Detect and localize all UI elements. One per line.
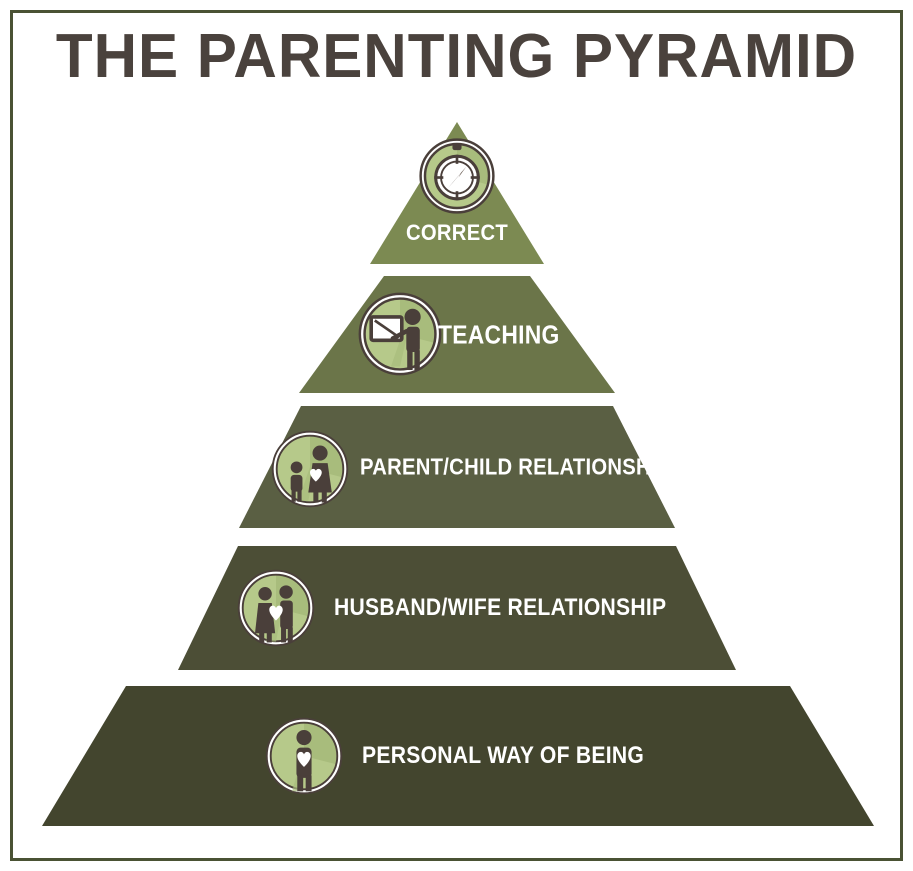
pyramid-level-teaching[interactable]: TEACHING	[299, 276, 615, 393]
pyramid-chart: CORRECT	[0, 0, 913, 871]
level-2-label: TEACHING	[438, 319, 560, 350]
person-heart-icon	[262, 714, 346, 798]
level-3-label: PARENT/CHILD RELATIONSHIP	[360, 454, 671, 481]
parent-child-heart-icon	[268, 427, 352, 511]
level-5-label: PERSONAL WAY OF BEING	[362, 742, 644, 770]
couple-heart-icon	[234, 566, 318, 650]
pyramid-level-husband-wife[interactable]: HUSBAND/WIFE RELATIONSHIP	[178, 546, 736, 670]
pyramid-level-personal-way-of-being[interactable]: PERSONAL WAY OF BEING	[42, 686, 874, 826]
pyramid-infographic: THE PARENTING PYRAMID	[0, 0, 913, 871]
pyramid-level-correct[interactable]: CORRECT	[370, 122, 544, 264]
compass-icon	[419, 138, 495, 214]
level-4-label: HUSBAND/WIFE RELATIONSHIP	[334, 594, 666, 622]
level-1-label: CORRECT	[406, 220, 508, 246]
teacher-whiteboard-icon	[355, 289, 445, 379]
pyramid-level-parent-child[interactable]: PARENT/CHILD RELATIONSHIP	[239, 406, 675, 528]
